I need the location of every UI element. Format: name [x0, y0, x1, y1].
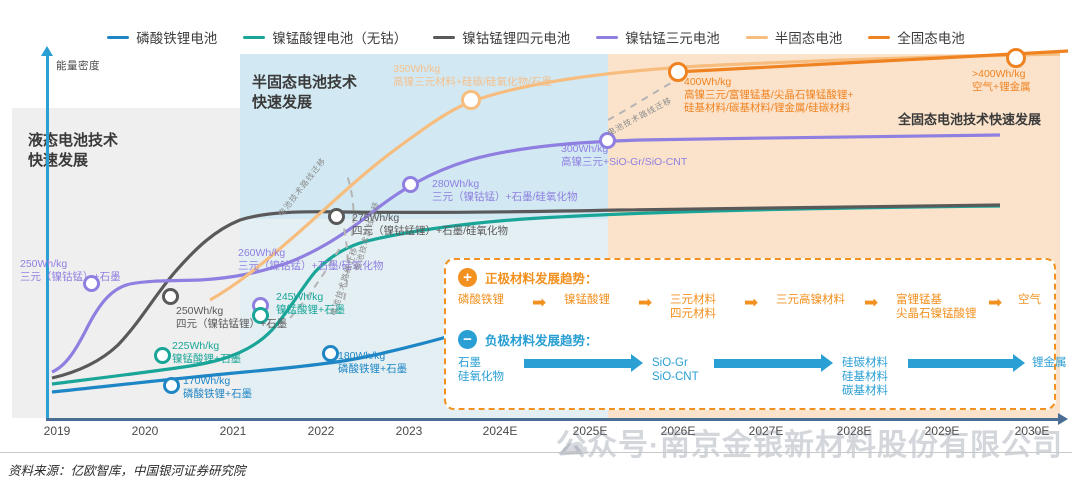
annotation-280: 280Wh/kg 三元（镍钴锰）+石墨/硅氧化物	[432, 178, 578, 204]
minus-icon: −	[458, 330, 477, 349]
source-note: 资料来源：亿欧智库，中国银河证券研究院	[8, 460, 246, 479]
anode-arrow-1-icon	[524, 359, 632, 368]
anode-step-1-l2: 硅氧化物	[458, 370, 504, 384]
annotation-225-desc: 镍锰酸锂+石墨	[172, 353, 241, 366]
data-point-170[interactable]	[163, 377, 180, 394]
annotation-400-plus-desc: 空气+锂金属	[972, 81, 1031, 94]
annotation-400-value: 400Wh/kg	[684, 76, 853, 89]
cathode-arrow-1-icon: ➡	[532, 294, 546, 311]
cathode-step-3-l2: 四元材料	[670, 307, 716, 321]
data-point-350[interactable]	[461, 90, 481, 110]
annotation-250-quad: 250Wh/kg 四元（镍钴锰锂）+石墨	[176, 305, 287, 331]
annotation-300-value: 300Wh/kg	[561, 143, 687, 156]
annotation-280-desc: 三元（镍钴锰）+石墨/硅氧化物	[432, 191, 578, 204]
annotation-170: 170Wh/kg 磷酸铁锂+石墨	[183, 375, 252, 401]
cathode-step-5-l1: 富锂锰基	[896, 293, 977, 307]
anode-step-2-l1: SiO-Gr	[652, 356, 699, 370]
annotation-180-value: 180Wh/kg	[338, 350, 407, 363]
material-trend-inset: + 正极材料发展趋势： 磷酸铁锂 ➡ 镍锰酸锂 ➡ 三元材料 四元材料 ➡ 三元…	[444, 258, 1056, 410]
plus-icon: +	[458, 268, 477, 287]
annotation-400-plus-value: >400Wh/kg	[972, 68, 1031, 81]
cathode-step-6-l1: 空气	[1018, 293, 1041, 307]
data-point-250-quad[interactable]	[162, 288, 179, 305]
cathode-step-1: 磷酸铁锂	[458, 293, 504, 307]
anode-step-4: 锂金属	[1032, 356, 1067, 370]
data-point-400-plus[interactable]	[1006, 48, 1026, 68]
annotation-170-value: 170Wh/kg	[183, 375, 252, 388]
annotation-300-desc: 高镍三元+SiO-Gr/SiO-CNT	[561, 156, 687, 169]
annotation-225-value: 225Wh/kg	[172, 340, 241, 353]
annotation-400: 400Wh/kg 高镍三元/富锂锰基/尖晶石镍锰酸锂+ 硅基材料/碳基材料/锂金…	[684, 76, 853, 115]
annotation-400-plus: >400Wh/kg 空气+锂金属	[972, 68, 1031, 94]
positive-trend-header: + 正极材料发展趋势：	[458, 268, 598, 287]
annotation-250-ncm-value: 250Wh/kg	[20, 258, 121, 271]
x-tick-2020: 2020	[132, 424, 159, 438]
cathode-step-5: 富锂锰基 尖晶石镍锰酸锂	[896, 293, 977, 321]
annotation-170-desc: 磷酸铁锂+石墨	[183, 388, 252, 401]
cathode-arrow-2-icon: ➡	[638, 294, 652, 311]
anode-step-3: 硅碳材料 硅基材料 碳基材料	[842, 356, 888, 398]
anode-step-2: SiO-Gr SiO-CNT	[652, 356, 699, 384]
annotation-400-desc-line1: 高镍三元/富锂锰基/尖晶石镍锰酸锂+	[684, 89, 853, 102]
annotation-350-value: 350Wh/kg	[393, 63, 552, 76]
cathode-step-6: 空气	[1018, 293, 1041, 307]
cathode-arrow-4-icon: ➡	[864, 294, 878, 311]
cathode-step-5-l2: 尖晶石镍锰酸锂	[896, 307, 977, 321]
anode-step-1-l1: 石墨	[458, 356, 504, 370]
annotation-250-quad-value: 250Wh/kg	[176, 305, 287, 318]
annotation-275-desc: 四元（镍钴锰锂）+石墨/硅氧化物	[352, 225, 508, 238]
positive-trend-title: 正极材料发展趋势：	[485, 268, 598, 287]
negative-trend-title: 负极材料发展趋势：	[485, 330, 598, 349]
annotation-350: 350Wh/kg 高镍三元材料+硅碳/硅氧化物/石墨	[393, 63, 552, 89]
annotation-250-quad-desc: 四元（镍钴锰锂）+石墨	[176, 318, 287, 331]
cathode-step-4-l1: 三元高镍材料	[776, 293, 845, 307]
cathode-step-2: 镍锰酸锂	[564, 293, 610, 307]
cathode-step-3-l1: 三元材料	[670, 293, 716, 307]
cathode-arrow-3-icon: ➡	[744, 294, 758, 311]
data-point-180[interactable]	[322, 345, 339, 362]
anode-arrow-2-icon	[714, 359, 822, 368]
anode-step-3-l2: 硅基材料	[842, 370, 888, 384]
x-tick-2022: 2022	[308, 424, 335, 438]
data-point-275[interactable]	[328, 208, 345, 225]
x-tick-2024E: 2024E	[483, 424, 518, 438]
anode-step-3-l3: 碳基材料	[842, 384, 888, 398]
anode-arrow-3-icon	[908, 359, 1014, 368]
anode-step-2-l2: SiO-CNT	[652, 370, 699, 384]
negative-trend-header: − 负极材料发展趋势：	[458, 330, 598, 349]
data-point-280[interactable]	[402, 176, 419, 193]
watermark: 公众号·南京金银新材料股份有限公司	[556, 420, 1063, 464]
cathode-step-3: 三元材料 四元材料	[670, 293, 716, 321]
annotation-250-ncm-desc: 三元（镍钴锰）+石墨	[20, 271, 121, 284]
annotation-280-value: 280Wh/kg	[432, 178, 578, 191]
cathode-step-2-l1: 镍锰酸锂	[564, 293, 610, 307]
x-tick-2023: 2023	[396, 424, 423, 438]
annotation-180-desc: 磷酸铁锂+石墨	[338, 363, 407, 376]
x-tick-2021: 2021	[220, 424, 247, 438]
anode-step-1: 石墨 硅氧化物	[458, 356, 504, 384]
annotation-180: 180Wh/kg 磷酸铁锂+石墨	[338, 350, 407, 376]
annotation-300: 300Wh/kg 高镍三元+SiO-Gr/SiO-CNT	[561, 143, 687, 169]
anode-step-3-l1: 硅碳材料	[842, 356, 888, 370]
footer-divider	[0, 452, 1072, 453]
cathode-step-1-l1: 磷酸铁锂	[458, 293, 504, 307]
anode-step-4-l1: 锂金属	[1032, 356, 1067, 370]
x-tick-2019: 2019	[44, 424, 71, 438]
cathode-step-4: 三元高镍材料	[776, 293, 845, 307]
cathode-arrow-5-icon: ➡	[988, 294, 1002, 311]
annotation-350-desc: 高镍三元材料+硅碳/硅氧化物/石墨	[393, 76, 552, 89]
annotation-225: 225Wh/kg 镍锰酸锂+石墨	[172, 340, 241, 366]
data-point-225[interactable]	[154, 347, 171, 364]
annotation-400-desc-line2: 硅基材料/碳基材料/锂金属/硅碳材料	[684, 102, 853, 115]
annotation-250-ncm: 250Wh/kg 三元（镍钴锰）+石墨	[20, 258, 121, 284]
